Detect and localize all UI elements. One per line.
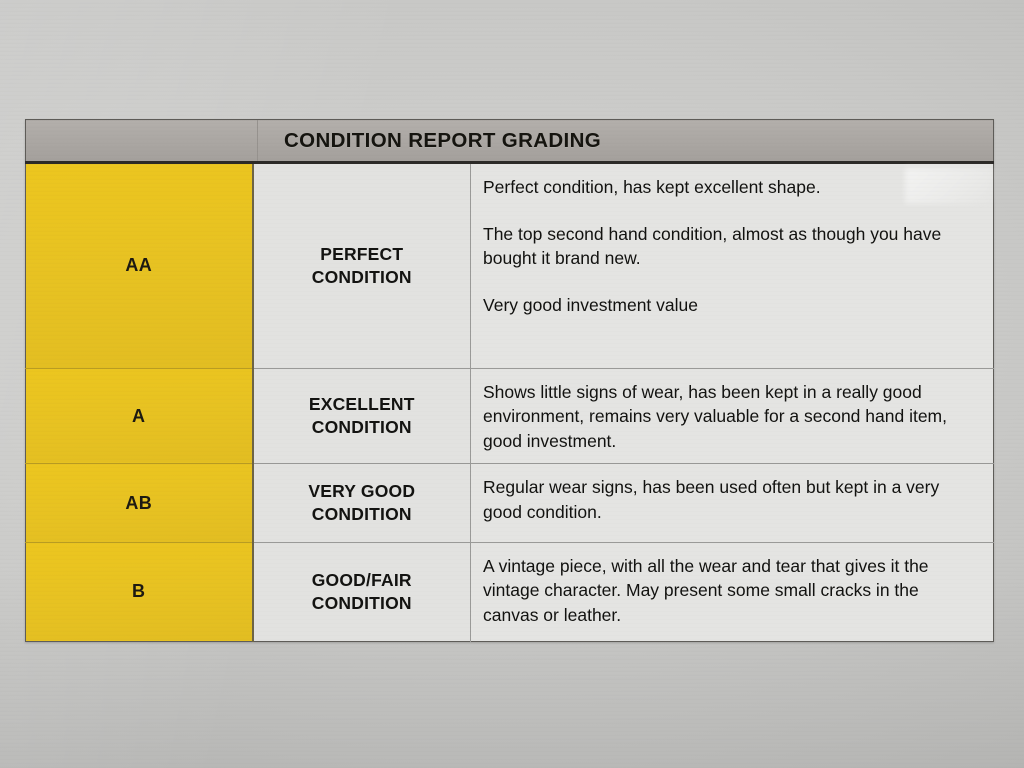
condition-name-b: GOOD/FAIR CONDITION bbox=[253, 542, 471, 641]
description-paragraph: A vintage piece, with all the wear and t… bbox=[483, 554, 979, 628]
condition-name-line-2: CONDITION bbox=[312, 593, 412, 613]
condition-name-aa: PERFECT CONDITION bbox=[253, 163, 471, 369]
table-row: AB VERY GOOD CONDITION Regular wear sign… bbox=[26, 464, 994, 542]
condition-name-line-2: CONDITION bbox=[312, 267, 412, 287]
condition-name-a: EXCELLENT CONDITION bbox=[253, 368, 471, 464]
table-row: A EXCELLENT CONDITION Shows little signs… bbox=[26, 368, 994, 464]
grade-code-aa: AA bbox=[26, 163, 253, 369]
table-row: B GOOD/FAIR CONDITION A vintage piece, w… bbox=[26, 542, 994, 641]
condition-name-line-1: EXCELLENT bbox=[309, 394, 415, 414]
description-aa: Perfect condition, has kept excellent sh… bbox=[471, 163, 994, 369]
description-ab: Regular wear signs, has been used often … bbox=[471, 464, 994, 542]
description-paragraph: Very good investment value bbox=[483, 293, 979, 318]
description-a: Shows little signs of wear, has been kep… bbox=[471, 368, 994, 464]
description-paragraph: The top second hand condition, almost as… bbox=[483, 222, 979, 271]
table-header-row: CONDITION REPORT GRADING bbox=[26, 120, 994, 163]
grade-code-b: B bbox=[26, 542, 253, 641]
table-row: AA PERFECT CONDITION Perfect condition, … bbox=[26, 163, 994, 369]
description-b: A vintage piece, with all the wear and t… bbox=[471, 542, 994, 641]
condition-name-line-2: CONDITION bbox=[312, 417, 412, 437]
grade-code-a: A bbox=[26, 368, 253, 464]
condition-grading-table: CONDITION REPORT GRADING AA PERFECT COND… bbox=[25, 119, 994, 642]
condition-name-line-1: VERY GOOD bbox=[308, 481, 415, 501]
condition-name-ab: VERY GOOD CONDITION bbox=[253, 464, 471, 542]
table-header-cell: CONDITION REPORT GRADING bbox=[26, 120, 994, 163]
description-paragraph: Perfect condition, has kept excellent sh… bbox=[483, 175, 979, 200]
page-title: CONDITION REPORT GRADING bbox=[258, 129, 601, 153]
condition-name-line-1: GOOD/FAIR bbox=[312, 570, 412, 590]
header-left-spacer bbox=[26, 120, 258, 161]
condition-name-line-1: PERFECT bbox=[320, 244, 403, 264]
condition-name-line-2: CONDITION bbox=[312, 504, 412, 524]
description-paragraph: Shows little signs of wear, has been kep… bbox=[483, 380, 979, 454]
description-paragraph: Regular wear signs, has been used often … bbox=[483, 475, 979, 524]
grade-code-ab: AB bbox=[26, 464, 253, 542]
